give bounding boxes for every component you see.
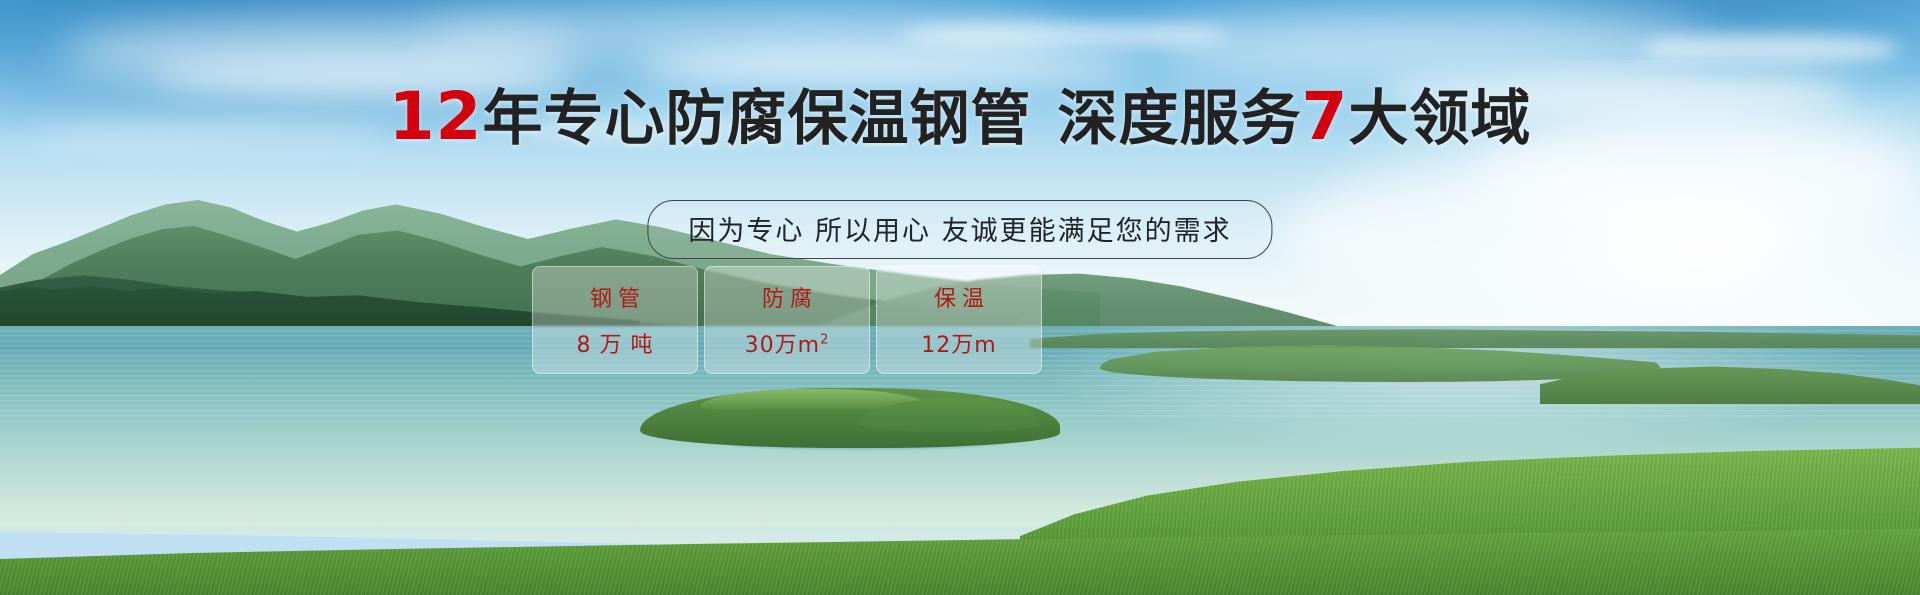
hero-banner: 12年专心防腐保温钢管深度服务7大领域 因为专心 所以用心 友诚更能满足您的需求… [0,0,1920,595]
headline-number-fields: 7 [1301,78,1348,155]
stat-card-value: 12万m [921,327,996,359]
cloud-shape [640,46,1140,86]
stat-card-label: 保温 [928,281,990,313]
headline-number-years: 12 [389,78,483,155]
headline-segment-2: 深度服务 [1057,84,1301,154]
stat-card-label: 防腐 [756,281,818,313]
stat-card-value-main: 12万m [921,333,996,358]
banner-headline: 12年专心防腐保温钢管深度服务7大领域 [0,84,1920,150]
stat-card-value: 8 万 吨 [577,327,654,359]
headline-segment-3: 大领域 [1348,84,1531,154]
stat-card-group: 钢管 8 万 吨 防腐 30万m2 保温 12万m [532,266,1042,374]
stat-card-value-main: 30万m [745,333,820,358]
banner-subtitle-pill: 因为专心 所以用心 友诚更能满足您的需求 [647,200,1272,259]
stat-card-steel-pipe[interactable]: 钢管 8 万 吨 [532,266,698,374]
stat-card-value-main: 8 万 吨 [577,333,654,358]
stat-card-anticorrosion[interactable]: 防腐 30万m2 [704,266,870,374]
stat-card-label: 钢管 [584,281,646,313]
headline-segment-1: 年专心防腐保温钢管 [482,84,1031,154]
stat-card-insulation[interactable]: 保温 12万m [876,266,1042,374]
stat-card-value: 30万m2 [745,327,830,359]
banner-subtitle-text: 因为专心 所以用心 友诚更能满足您的需求 [688,216,1231,247]
stat-card-value-superscript: 2 [820,333,829,348]
